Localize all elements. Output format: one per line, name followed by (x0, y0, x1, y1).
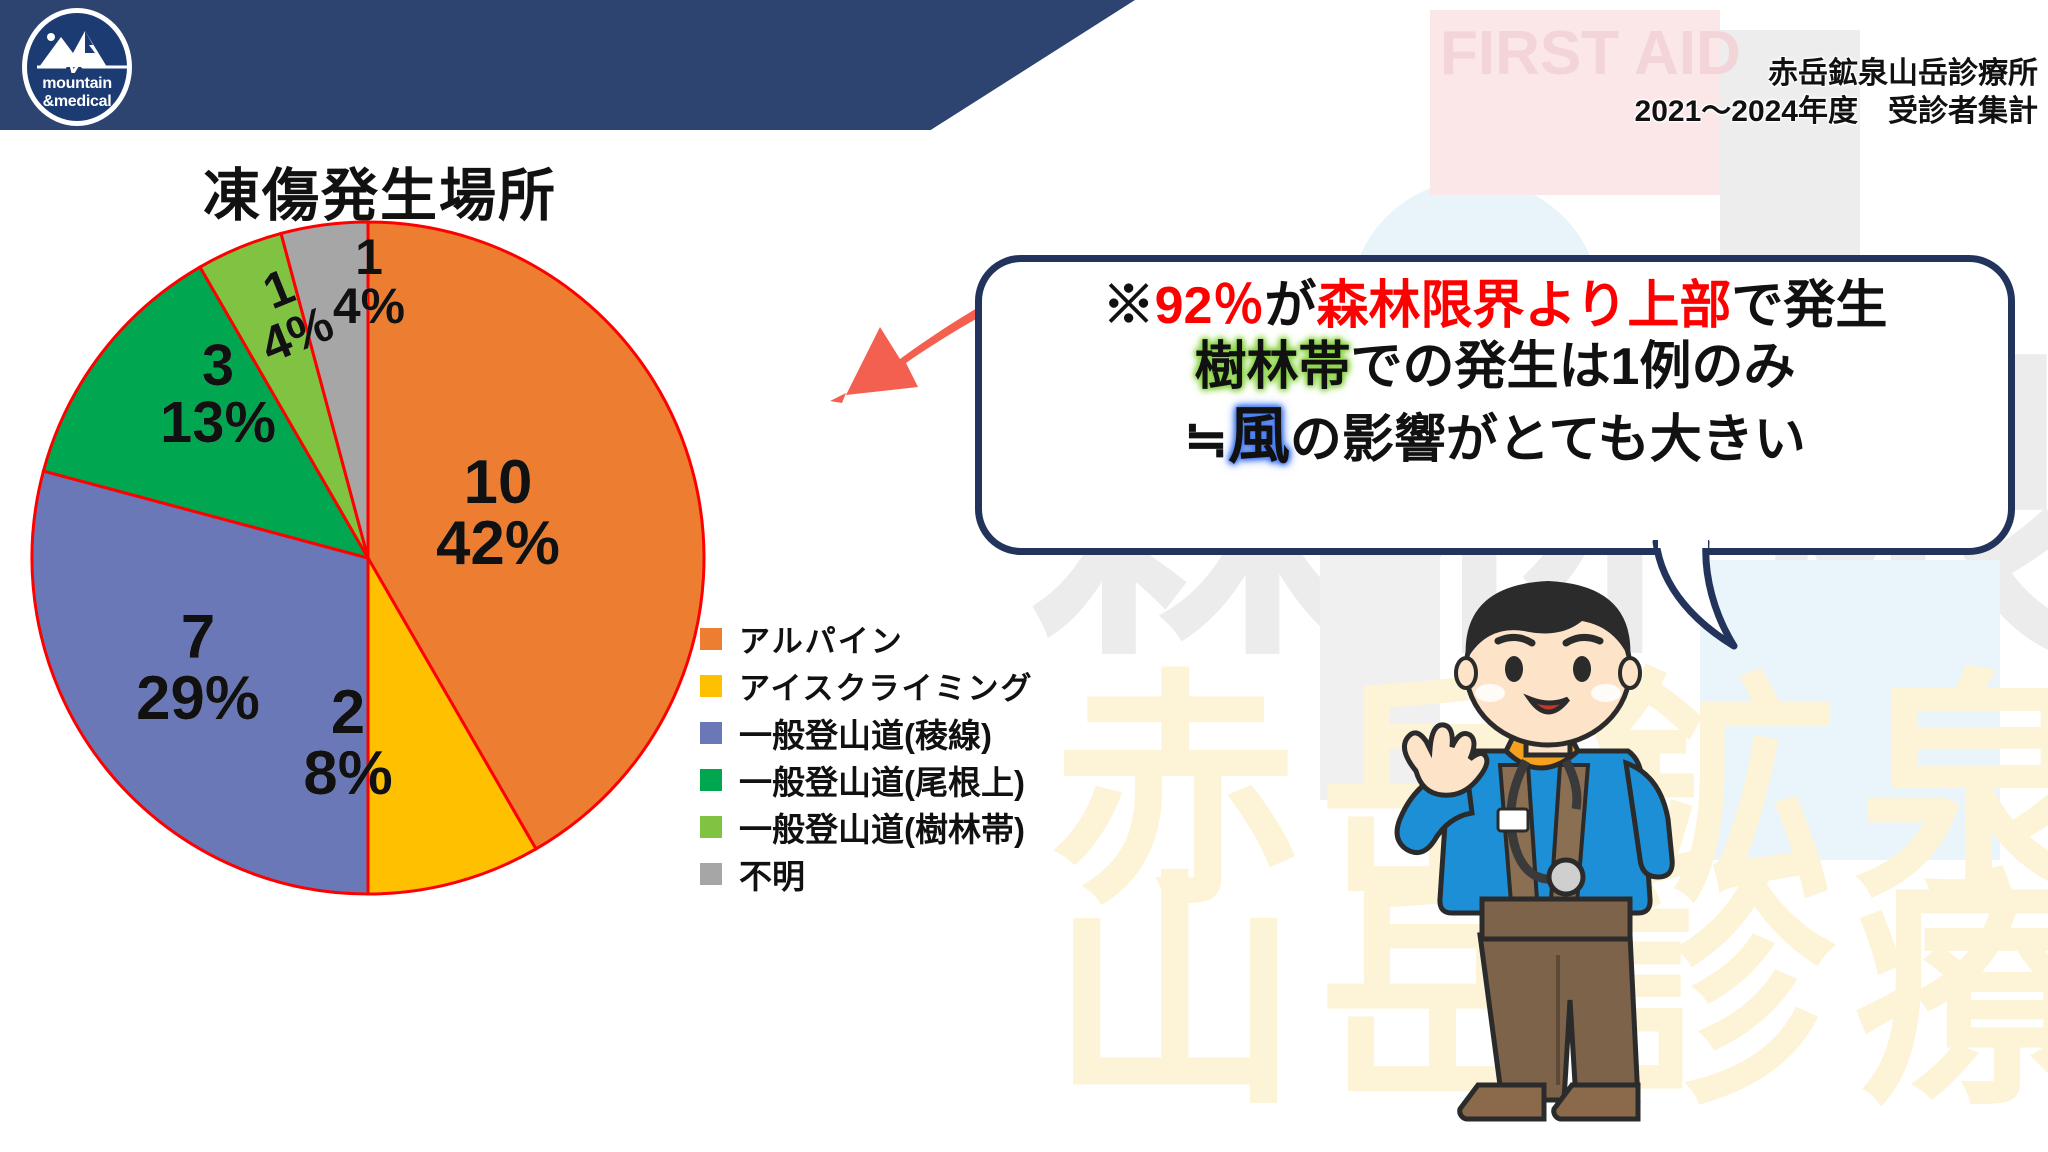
legend-label-forest: 一般登山道(樹林帯) (739, 803, 1025, 851)
bubble-occurs: で発生 (1731, 277, 1887, 335)
legend-swatch-ridge (700, 722, 722, 744)
legend-item-alpine[interactable]: アルパイン (700, 615, 1034, 662)
legend-swatch-ice-climbing (700, 675, 722, 697)
bubble-ga: が (1264, 277, 1316, 335)
legend-item-forest[interactable]: 一般登山道(樹林帯) (700, 803, 1034, 850)
legend-label-ridge: 一般登山道(稜線) (739, 709, 992, 757)
slice-label-unknown: 1 4% (314, 233, 424, 331)
legend-swatch-unknown (700, 863, 722, 885)
legend-swatch-alpine (700, 628, 722, 650)
bubble-line-1: ※92％が森林限界より上部で発生 (1000, 276, 1990, 337)
bubble-approx-symbol: ≒ (1184, 411, 1228, 469)
legend-item-ice-climbing[interactable]: アイスクライミング (700, 662, 1034, 709)
slice-label-alpine: 10 42% (398, 453, 598, 575)
legend-label-unknown: 不明 (739, 850, 805, 898)
bubble-line-3: ≒風の影響がとても大きい (1000, 399, 1990, 475)
logo-text-line1: mountain (27, 75, 127, 93)
bubble-wind-effect: の影響がとても大きい (1290, 411, 1806, 469)
bubble-one-case-only: での発生は1例のみ (1351, 338, 1796, 396)
bubble-above-treeline: 森林限界より上部 (1316, 277, 1731, 335)
source-subtitle: 赤岳鉱泉山岳診療所 2021〜2024年度 受診者集計 (1635, 55, 2038, 130)
pie-chart: 10 42% 2 8% 7 29% 3 13% 1 4% 1 4% (28, 218, 708, 898)
legend-item-unknown[interactable]: 不明 (700, 850, 1034, 897)
chart-legend: アルパイン アイスクライミング 一般登山道(稜線) 一般登山道(尾根上) 一般登… (700, 615, 1034, 897)
slice-label-ridge: 7 29% (113, 608, 283, 730)
mountain-ecg-icon (35, 23, 129, 73)
legend-label-spur: 一般登山道(尾根上) (739, 756, 1025, 804)
mountain-medical-logo: mountain &medical (22, 8, 132, 126)
legend-item-spur[interactable]: 一般登山道(尾根上) (700, 756, 1034, 803)
bubble-wind-highlight: 風 (1228, 402, 1290, 471)
logo-text-line2: &medical (27, 93, 127, 111)
legend-swatch-forest (700, 816, 722, 838)
legend-swatch-spur (700, 769, 722, 791)
doctor-illustration (1330, 565, 1760, 1152)
legend-item-ridge[interactable]: 一般登山道(稜線) (700, 709, 1034, 756)
subtitle-line2: 2021〜2024年度 受診者集計 (1635, 93, 2038, 131)
slice-label-ice-climbing: 2 8% (278, 683, 418, 805)
callout-bubble: ※92％が森林限界より上部で発生 樹林帯での発生は1例のみ ≒風の影響がとても大… (975, 255, 2015, 555)
legend-label-ice-climbing: アイスクライミング (739, 663, 1034, 708)
bubble-asterisk: ※ (1103, 277, 1155, 335)
bubble-forest-zone-highlight: 樹林帯 (1195, 338, 1351, 396)
bubble-pct-92: 92％ (1155, 277, 1265, 335)
legend-label-alpine: アルパイン (739, 616, 904, 661)
bubble-line-2: 樹林帯での発生は1例のみ (1000, 337, 1990, 398)
subtitle-line1: 赤岳鉱泉山岳診療所 (1635, 55, 2038, 93)
